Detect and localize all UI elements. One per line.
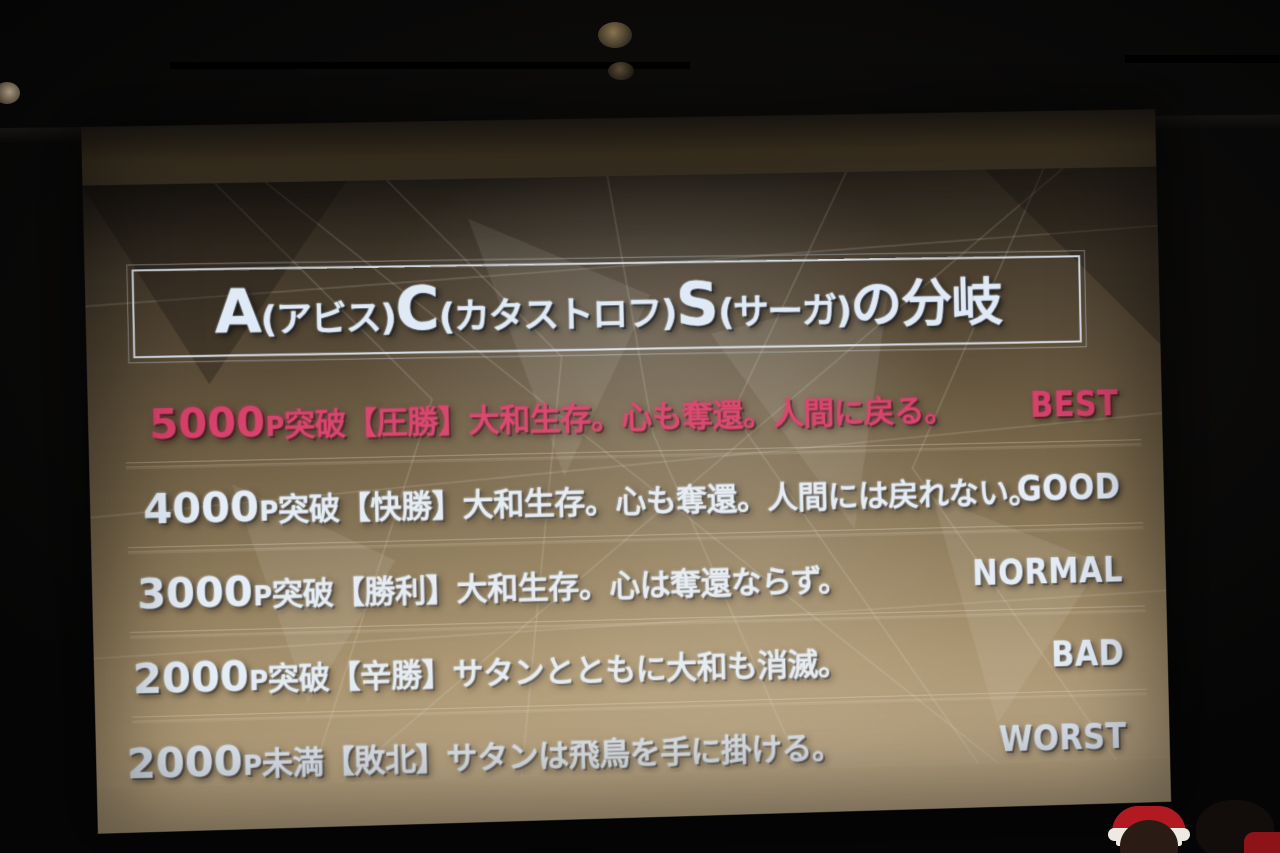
row-description: 3000P突破【勝利】大和生存。心は奪還ならず。 xyxy=(136,552,848,618)
page-title: A(アビス)C(カタストロフ)S(サーガ)の分岐 xyxy=(214,270,1002,342)
row-bracket: 【勝利】 xyxy=(333,572,457,611)
status-badge: BAD xyxy=(1051,632,1125,675)
row-points: 2000 xyxy=(126,737,243,789)
row-points: 5000 xyxy=(149,398,266,449)
title-letter-c: C xyxy=(395,274,440,345)
status-badge: BEST xyxy=(1030,383,1119,426)
row-points-unit: P xyxy=(265,413,285,444)
stage-floor xyxy=(0,789,1280,853)
row-condition: 突破 xyxy=(284,406,347,444)
wall-lamp-icon xyxy=(0,82,20,104)
row-bracket: 【圧勝】 xyxy=(345,403,469,442)
ceiling-lamp-icon xyxy=(598,22,632,48)
status-badge: WORST xyxy=(998,715,1127,759)
row-description: 4000P突破【快勝】大和生存。心も奪還。人間には戻れない。 xyxy=(143,464,1039,533)
row-bracket: 【敗北】 xyxy=(323,741,447,781)
row-condition: 突破 xyxy=(267,660,330,698)
row-points: 2000 xyxy=(132,652,249,703)
screen-surface: A(アビス)C(カタストロフ)S(サーガ)の分岐 5000P突破【圧勝】大和生存… xyxy=(81,109,1171,834)
status-badge: GOOD xyxy=(1017,466,1122,509)
row-condition: 未満 xyxy=(261,745,324,783)
row-outcome: サタンとともに大和も消滅。 xyxy=(452,646,848,693)
title-suffix: の分岐 xyxy=(850,273,1002,335)
photo-scene: A(アビス)C(カタストロフ)S(サーガ)の分岐 5000P突破【圧勝】大和生存… xyxy=(0,0,1280,853)
row-points: 3000 xyxy=(136,567,253,618)
row-condition: 突破 xyxy=(271,575,334,613)
title-letter-s: S xyxy=(675,270,718,341)
row-outcome: 大和生存。心も奪還。人間に戻る。 xyxy=(468,393,955,440)
title-kana-catastrophe: (カタストロフ) xyxy=(438,293,676,338)
slide-canvas: A(アビス)C(カタストロフ)S(サーガ)の分岐 5000P突破【圧勝】大和生存… xyxy=(82,167,1170,790)
row-bracket: 【辛勝】 xyxy=(329,657,453,696)
row-bracket: 【快勝】 xyxy=(339,488,463,527)
title-kana-abyss: (アビス) xyxy=(260,298,396,341)
row-points-unit: P xyxy=(259,497,279,528)
row-outcome: 大和生存。心も奪還。人間には戻れない。 xyxy=(462,474,1039,524)
row-condition: 突破 xyxy=(277,491,340,529)
row-points-unit: P xyxy=(243,751,263,782)
row-outcome: 大和生存。心は奪還ならず。 xyxy=(456,562,849,608)
title-letter-a: A xyxy=(214,277,261,348)
ceiling-lamp-secondary-icon xyxy=(608,62,634,80)
row-description: 2000P未満【敗北】サタンは飛鳥を手に掛ける。 xyxy=(126,720,842,789)
row-outcome: サタンは飛鳥を手に掛ける。 xyxy=(446,730,843,777)
slide-title-box: A(アビス)C(カタストロフ)S(サーガ)の分岐 xyxy=(132,255,1082,358)
outcome-table: 5000P突破【圧勝】大和生存。心も奪還。人間に戻る。 BEST 4000P突破… xyxy=(87,361,1170,790)
row-points-unit: P xyxy=(253,582,273,613)
ceiling-vent-slot-right xyxy=(1125,55,1280,63)
status-badge: NORMAL xyxy=(972,549,1123,593)
row-points-unit: P xyxy=(249,667,269,698)
title-kana-saga: (サーガ) xyxy=(718,291,851,334)
row-description: 5000P突破【圧勝】大和生存。心も奪還。人間に戻る。 xyxy=(149,383,955,449)
row-points: 4000 xyxy=(143,483,260,534)
projection-screen: A(アビス)C(カタストロフ)S(サーガ)の分岐 5000P突破【圧勝】大和生存… xyxy=(81,109,1171,834)
row-description: 2000P突破【辛勝】サタンとともに大和も消滅。 xyxy=(132,636,848,703)
